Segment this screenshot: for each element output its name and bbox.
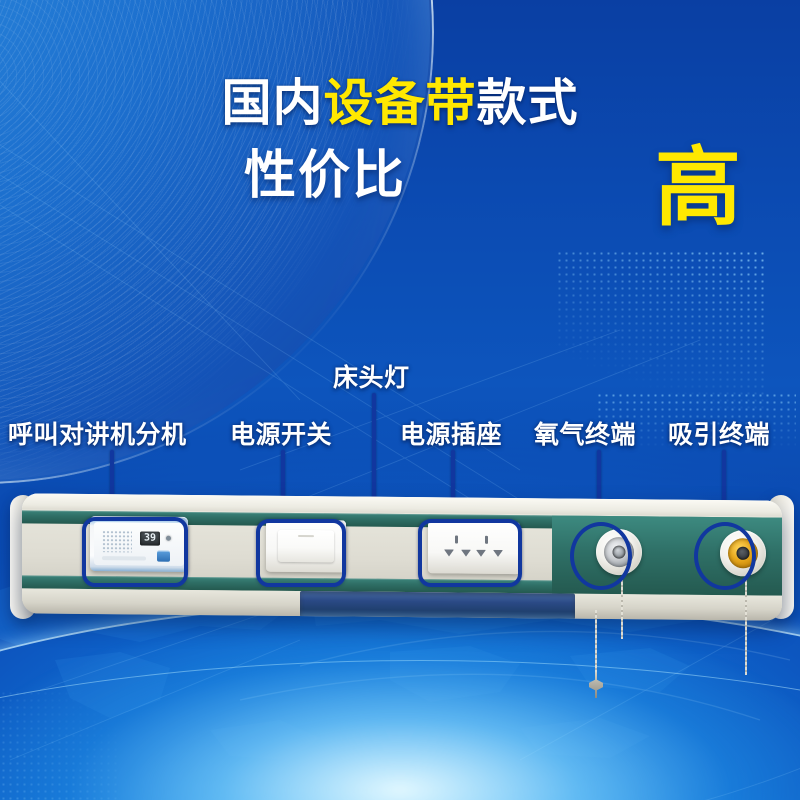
- headline-line1-emphasis: 设备带: [324, 75, 477, 131]
- callout-label-suction: 吸引终端: [668, 415, 770, 451]
- oxygen-terminal-cord: [621, 577, 623, 639]
- callout-label-bed-lamp: 床头灯: [333, 358, 410, 394]
- callout-label-socket: 电源插座: [400, 415, 502, 451]
- headline-line1-part1: 国内: [222, 75, 324, 131]
- halftone-dots-upper: [556, 250, 766, 410]
- callout-frame-suction: [694, 522, 756, 590]
- callout-frame-oxygen: [570, 522, 632, 590]
- callout-frame-power-switch: [256, 519, 346, 587]
- headline-big-word: 高: [655, 145, 741, 231]
- callout-frame-socket: [418, 519, 522, 587]
- pull-cord: [595, 610, 597, 682]
- bed-lamp-diffuser[interactable]: [300, 591, 575, 620]
- callout-label-power-switch: 电源开关: [230, 415, 332, 451]
- halftone-dots-lower: [0, 690, 120, 800]
- suction-terminal-cord: [745, 577, 747, 675]
- callout-label-intercom: 呼叫对讲机分机: [8, 415, 187, 451]
- callout-frame-intercom: [82, 517, 188, 587]
- callout-label-oxygen: 氧气终端: [534, 415, 636, 451]
- headline-line1-part2: 款式: [477, 75, 579, 131]
- banner-canvas: 国内设备带款式 性价比 高 呼叫对讲机分机 电源开关 床头灯 电源插座 氧气终端…: [0, 0, 800, 800]
- headline-line-1: 国内设备带款式: [0, 78, 800, 128]
